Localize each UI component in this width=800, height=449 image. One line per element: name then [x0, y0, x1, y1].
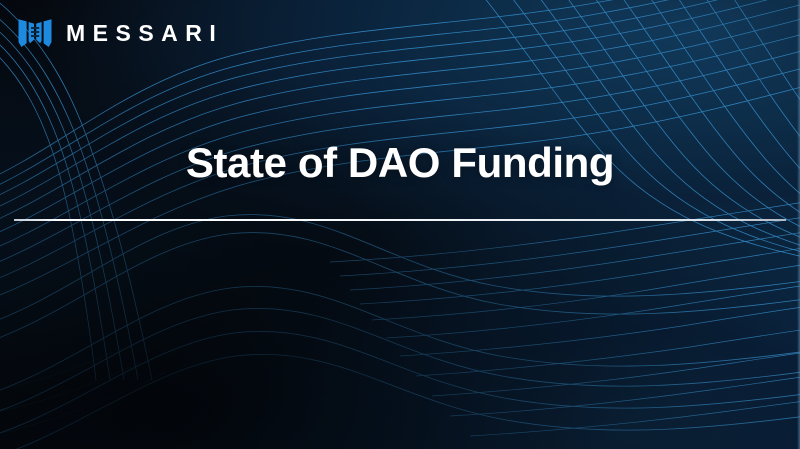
messari-wordmark: MESSARI: [66, 22, 223, 45]
messari-logo-lockup: MESSARI: [18, 18, 223, 48]
title-block: State of DAO Funding: [0, 138, 800, 188]
wave-pattern-decoration: [0, 0, 800, 449]
messari-logo-icon: [18, 18, 52, 48]
title-slide: MESSARI State of DAO Funding: [0, 0, 800, 449]
title-divider: [14, 219, 786, 221]
page-title: State of DAO Funding: [186, 138, 614, 188]
